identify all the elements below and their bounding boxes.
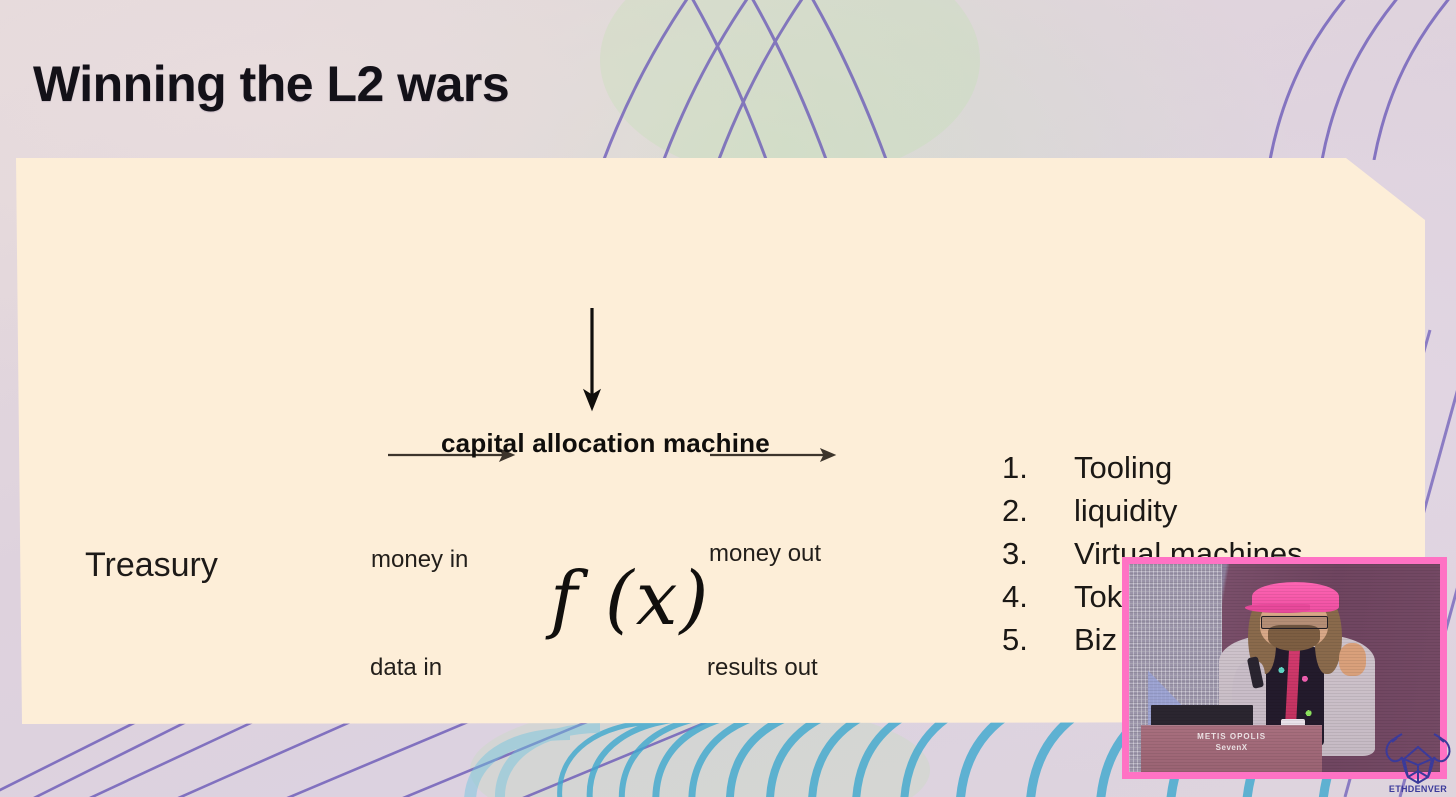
list-item: 2. liquidity bbox=[1002, 489, 1303, 532]
podium-logo-row-1: METIS OPOLIS bbox=[1141, 731, 1321, 742]
list-item-number: 2. bbox=[1002, 489, 1074, 532]
list-item-label: liquidity bbox=[1074, 489, 1177, 532]
slide-screenshot: Winning the L2 wars Treasury capital all… bbox=[0, 0, 1456, 797]
ethdenver-label: ETHDENVER bbox=[1380, 784, 1456, 794]
list-item-number: 5. bbox=[1002, 618, 1074, 661]
list-item-number: 3. bbox=[1002, 532, 1074, 575]
speaker-cap-brim bbox=[1245, 604, 1310, 613]
bufficorn-logo-icon bbox=[1380, 733, 1456, 785]
speaker-glasses bbox=[1261, 616, 1328, 630]
treasury-label: Treasury bbox=[85, 546, 218, 585]
podium-laptop bbox=[1151, 705, 1254, 726]
ethdenver-watermark: ETHDENVER bbox=[1380, 733, 1456, 795]
podium: METIS OPOLIS SevenX bbox=[1141, 725, 1321, 772]
list-item: 1. Tooling bbox=[1002, 446, 1303, 489]
list-item-number: 1. bbox=[1002, 446, 1074, 489]
podium-logo-row-2: SevenX bbox=[1141, 742, 1321, 753]
function-notation: f (x) bbox=[550, 562, 710, 636]
capital-allocation-machine-label: capital allocation machine bbox=[441, 428, 770, 459]
speaker-beard bbox=[1268, 625, 1320, 650]
arrow-down-icon bbox=[584, 308, 600, 410]
slide-title: Winning the L2 wars bbox=[33, 57, 509, 112]
list-item-number: 4. bbox=[1002, 575, 1074, 618]
money-in-label: money in bbox=[371, 546, 468, 574]
data-in-label: data in bbox=[370, 654, 442, 682]
speaker-right-hand bbox=[1339, 643, 1366, 676]
list-item-label: Tooling bbox=[1074, 446, 1172, 489]
podium-sponsor-logos: METIS OPOLIS SevenX bbox=[1141, 731, 1321, 753]
results-out-label: results out bbox=[707, 654, 818, 682]
money-out-label: money out bbox=[709, 540, 821, 568]
